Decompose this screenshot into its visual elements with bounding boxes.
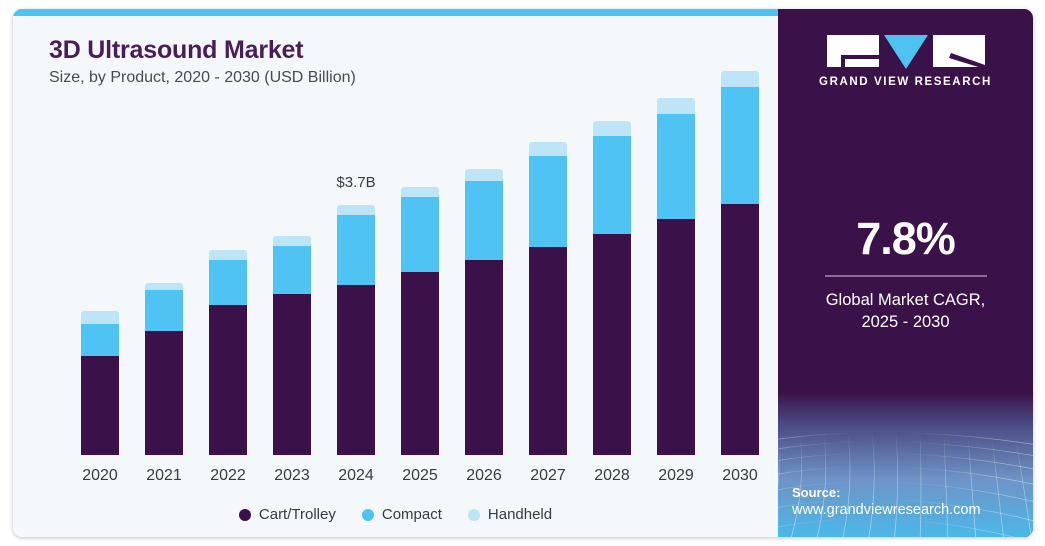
bar-2025 bbox=[401, 187, 439, 455]
cagr-label: Global Market CAGR, 2025 - 2030 bbox=[778, 289, 1033, 334]
bar-segment-cart-trolley-2020 bbox=[81, 356, 119, 455]
x-axis-tick-2027: 2027 bbox=[516, 467, 580, 485]
bar-segment-handheld-2029 bbox=[657, 98, 695, 114]
bar-2024 bbox=[337, 205, 375, 455]
chart-pane: 3D Ultrasound Market Size, by Product, 2… bbox=[13, 16, 778, 537]
source-url[interactable]: www.grandviewresearch.com bbox=[792, 501, 1024, 521]
bar-segment-cart-trolley-2021 bbox=[145, 331, 183, 455]
bar-segment-compact-2022 bbox=[209, 260, 247, 305]
x-axis-tick-2020: 2020 bbox=[68, 467, 132, 485]
bar-segment-cart-trolley-2028 bbox=[593, 234, 631, 455]
source-block: Source: www.grandviewresearch.com bbox=[792, 484, 1024, 521]
cagr-label-line2: 2025 - 2030 bbox=[861, 313, 949, 331]
bar-segment-handheld-2030 bbox=[721, 71, 759, 87]
chart-legend: Cart/TrolleyCompactHandheld bbox=[13, 506, 778, 523]
x-axis-tick-2021: 2021 bbox=[132, 467, 196, 485]
logo-r-mark bbox=[933, 35, 985, 67]
bar-segment-handheld-2025 bbox=[401, 187, 439, 197]
bar-segment-handheld-2026 bbox=[465, 169, 503, 181]
bar-segment-compact-2021 bbox=[145, 290, 183, 330]
bar-segment-cart-trolley-2024 bbox=[337, 285, 375, 455]
bar-segment-handheld-2022 bbox=[209, 250, 247, 260]
bar-segment-compact-2029 bbox=[657, 114, 695, 219]
bar-segment-cart-trolley-2027 bbox=[529, 247, 567, 455]
legend-label: Cart/Trolley bbox=[259, 506, 336, 523]
bar-segment-compact-2026 bbox=[465, 181, 503, 260]
legend-label: Compact bbox=[382, 506, 442, 523]
bar-segment-compact-2030 bbox=[721, 87, 759, 204]
bar-segment-handheld-2020 bbox=[81, 311, 119, 324]
brand-logo: GRAND VIEW RESEARCH bbox=[778, 35, 1033, 88]
logo-v-triangle bbox=[884, 35, 928, 69]
legend-label: Handheld bbox=[488, 506, 552, 523]
bar-2029 bbox=[657, 98, 695, 455]
bar-2028 bbox=[593, 120, 631, 455]
legend-item-handheld[interactable]: Handheld bbox=[468, 506, 552, 523]
bar-segment-cart-trolley-2030 bbox=[721, 204, 759, 455]
bar-segment-compact-2028 bbox=[593, 136, 631, 234]
bar-segment-compact-2020 bbox=[81, 324, 119, 356]
bar-2022 bbox=[209, 250, 247, 455]
bar-2020 bbox=[81, 311, 119, 455]
bar-segment-handheld-2024 bbox=[337, 205, 375, 215]
infographic-card: 3D Ultrasound Market Size, by Product, 2… bbox=[13, 9, 1033, 537]
cagr-stat: 7.8% Global Market CAGR, 2025 - 2030 bbox=[778, 216, 1033, 334]
x-axis-tick-2026: 2026 bbox=[452, 467, 516, 485]
bar-segment-cart-trolley-2026 bbox=[465, 260, 503, 455]
bar-2021 bbox=[145, 283, 183, 455]
bar-segment-handheld-2023 bbox=[273, 236, 311, 246]
x-axis-tick-2024: 2024 bbox=[324, 467, 388, 485]
legend-swatch-icon bbox=[239, 509, 251, 521]
chart-infographic: 3D Ultrasound Market Size, by Product, 2… bbox=[0, 0, 1045, 546]
bar-segment-cart-trolley-2029 bbox=[657, 219, 695, 455]
bar-segment-cart-trolley-2022 bbox=[209, 305, 247, 455]
x-axis-tick-2023: 2023 bbox=[260, 467, 324, 485]
bar-segment-handheld-2028 bbox=[593, 121, 631, 136]
x-axis-tick-2022: 2022 bbox=[196, 467, 260, 485]
bar-segment-compact-2027 bbox=[529, 156, 567, 247]
cagr-label-line1: Global Market CAGR, bbox=[826, 291, 986, 309]
bar-segment-cart-trolley-2023 bbox=[273, 294, 311, 455]
bar-2023 bbox=[273, 236, 311, 455]
legend-item-cart-trolley[interactable]: Cart/Trolley bbox=[239, 506, 336, 523]
bar-2027 bbox=[529, 142, 567, 455]
x-axis-tick-2028: 2028 bbox=[580, 467, 644, 485]
logo-g-mark bbox=[827, 35, 879, 67]
x-axis-tick-2030: 2030 bbox=[708, 467, 772, 485]
x-axis-tick-2029: 2029 bbox=[644, 467, 708, 485]
bar-segment-compact-2024 bbox=[337, 215, 375, 285]
bar-2026 bbox=[465, 169, 503, 455]
logo-wordmark: GRAND VIEW RESEARCH bbox=[778, 76, 1033, 88]
brand-panel: GRAND VIEW RESEARCH 7.8% Global Market C… bbox=[778, 9, 1033, 537]
bar-2030 bbox=[721, 71, 759, 455]
bar-segment-cart-trolley-2025 bbox=[401, 272, 439, 455]
bar-segment-compact-2023 bbox=[273, 246, 311, 294]
source-label: Source: bbox=[792, 484, 1024, 502]
legend-item-compact[interactable]: Compact bbox=[362, 506, 442, 523]
bar-segment-compact-2025 bbox=[401, 197, 439, 272]
logo-marks bbox=[778, 35, 1033, 69]
bar-segment-handheld-2027 bbox=[529, 142, 567, 156]
stacked-bar-plot: 2020202120222023202420252026202720282029… bbox=[13, 16, 778, 537]
legend-swatch-icon bbox=[362, 509, 374, 521]
value-annotation-2024: $3.7B bbox=[336, 174, 375, 191]
bar-segment-handheld-2021 bbox=[145, 283, 183, 290]
x-axis-tick-2025: 2025 bbox=[388, 467, 452, 485]
cagr-divider bbox=[825, 275, 987, 277]
cagr-value: 7.8% bbox=[778, 216, 1033, 261]
legend-swatch-icon bbox=[468, 509, 480, 521]
accent-top-rule bbox=[13, 9, 778, 16]
